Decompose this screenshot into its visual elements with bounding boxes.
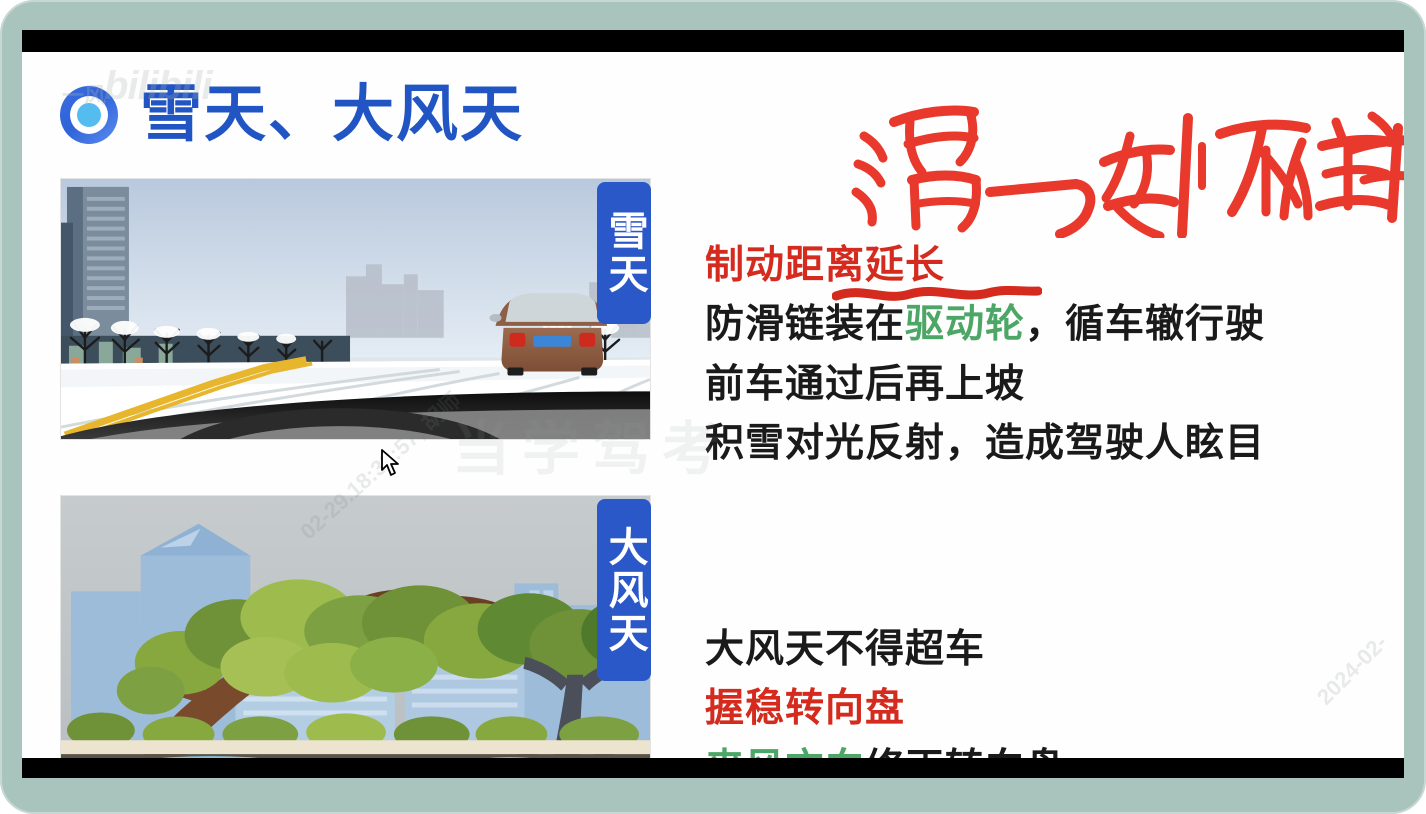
snow-line-2: 防滑链装在驱动轮，循车辙行驶: [705, 295, 1265, 354]
snow-line-1: 制动距离延长: [705, 236, 1265, 295]
wind-line-2: 握稳转向盘: [705, 679, 1065, 738]
pen-cursor-icon: [380, 448, 406, 478]
snow-text-block: 制动距离延长 防滑链装在驱动轮，循车辙行驶 前车通过后再上坡 积雪对光反射，造成…: [705, 236, 1265, 473]
wind-line-3: 来风方向修正转向盘: [705, 739, 1065, 758]
wind-line-1: 大风天不得超车: [705, 620, 1065, 679]
tab-label-snow: 雪天: [597, 182, 651, 324]
page-title: 雪天、大风天: [140, 84, 524, 146]
ring-inner: [70, 96, 108, 134]
snow-scene-image: [60, 178, 651, 440]
watermark-diagonal-right: 2024-02-: [1312, 630, 1393, 711]
letterbox-top-bar: [22, 30, 1404, 52]
tab-label-wind: 大风天: [597, 499, 651, 681]
handwritten-annotation: [850, 88, 1404, 238]
ring-dot: [77, 103, 101, 127]
wind-text-block: 大风天不得超车 握稳转向盘 来风方向修正转向盘: [705, 620, 1065, 758]
snow-line-3: 前车通过后再上坡: [705, 355, 1265, 414]
snow-line-4: 积雪对光反射，造成驾驶人眩目: [705, 414, 1265, 473]
slide-page: 雪天、大风天: [22, 52, 1404, 758]
letterbox-bottom-bar: [22, 756, 1404, 778]
wind-scene-image: [60, 495, 651, 758]
device-frame: 雪天、大风天: [0, 0, 1426, 814]
blue-ring-icon: [60, 86, 118, 144]
slide-header: 雪天、大风天: [60, 84, 524, 146]
